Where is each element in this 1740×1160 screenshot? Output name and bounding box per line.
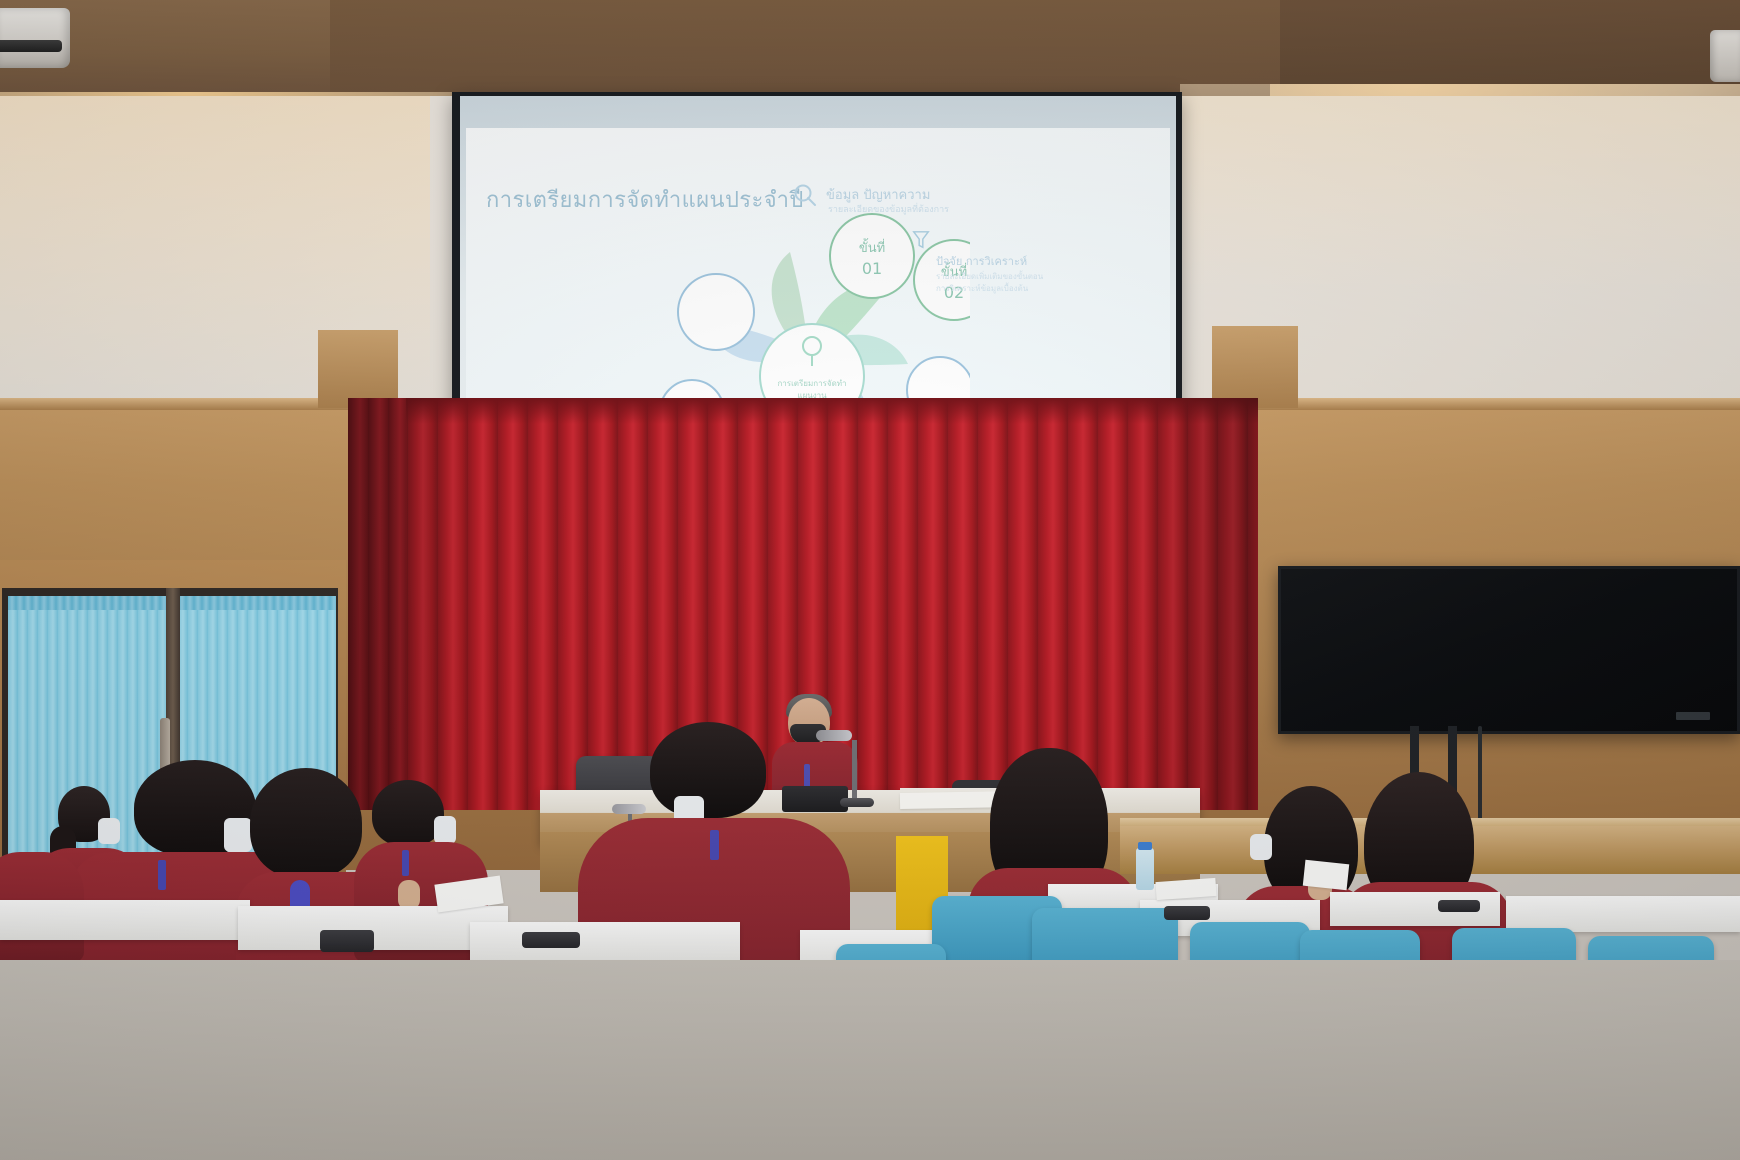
lanyard [402, 850, 409, 876]
hub-text-line1: การเตรียมการจัดทำ [777, 379, 846, 388]
face-mask-icon [434, 816, 456, 844]
microphone-base [840, 798, 874, 807]
curtain-shadow-left [348, 398, 468, 810]
bottle-cap [1138, 842, 1152, 850]
face-mask-icon [224, 818, 252, 852]
floor [0, 960, 1740, 1160]
air-conditioner-vent [0, 40, 62, 52]
tv-brand-logo [1676, 712, 1710, 720]
curtain-header-right [178, 596, 336, 610]
slide-filter-sub2: การวิเคราะห์ข้อมูลเบื้องต้น [936, 282, 1028, 295]
conference-room-photo: ขั้นที่ 01 ขั้นที่ 02 การเตรียมการจัดทำ … [0, 0, 1740, 1160]
step-01-label: ขั้นที่ [859, 238, 885, 256]
water-bottle[interactable] [1136, 848, 1154, 890]
wall-television[interactable] [1278, 566, 1740, 734]
smartphone[interactable] [1164, 906, 1210, 920]
paper-document [1303, 860, 1349, 890]
smartphone[interactable] [320, 930, 374, 952]
step-01-number: 01 [862, 259, 882, 278]
funnel-filter-icon [912, 230, 930, 250]
cornice-right [1212, 326, 1298, 408]
smartphone[interactable] [1438, 900, 1480, 912]
desk-tablet [1506, 896, 1740, 932]
curtain-header-left [8, 596, 166, 610]
face-mask-icon [1250, 834, 1272, 860]
lanyard [158, 860, 166, 890]
attendee-hair [250, 768, 362, 878]
microphone-stand [852, 740, 857, 802]
smartphone[interactable] [522, 932, 580, 948]
cornice-left [318, 330, 398, 408]
desk-tablet [0, 900, 250, 940]
slide-title: การเตรียมการจัดทำแผนประจำปี [486, 182, 796, 217]
lanyard [710, 830, 719, 860]
search-icon [792, 182, 818, 208]
slide-search-sub: รายละเอียดของข้อมูลที่ต้องการ [828, 202, 949, 216]
curtain-shadow-right [1130, 398, 1258, 810]
microphone-icon[interactable] [816, 730, 852, 741]
laptop[interactable] [782, 786, 848, 812]
desk-tablet [470, 922, 740, 962]
microphone-left-icon[interactable] [612, 804, 646, 814]
ceiling-soffit-right [1280, 0, 1740, 84]
face-mask-icon [98, 818, 120, 844]
air-conditioner-right [1710, 30, 1740, 82]
air-conditioner-left [0, 8, 70, 68]
tv-cable [1478, 726, 1482, 830]
attendee-hair [650, 722, 766, 818]
curtain-top-shadow [348, 398, 1258, 424]
node-circle-3 [678, 274, 754, 350]
slide-filter-label: ปัจจัย การวิเคราะห์ [936, 252, 1027, 270]
